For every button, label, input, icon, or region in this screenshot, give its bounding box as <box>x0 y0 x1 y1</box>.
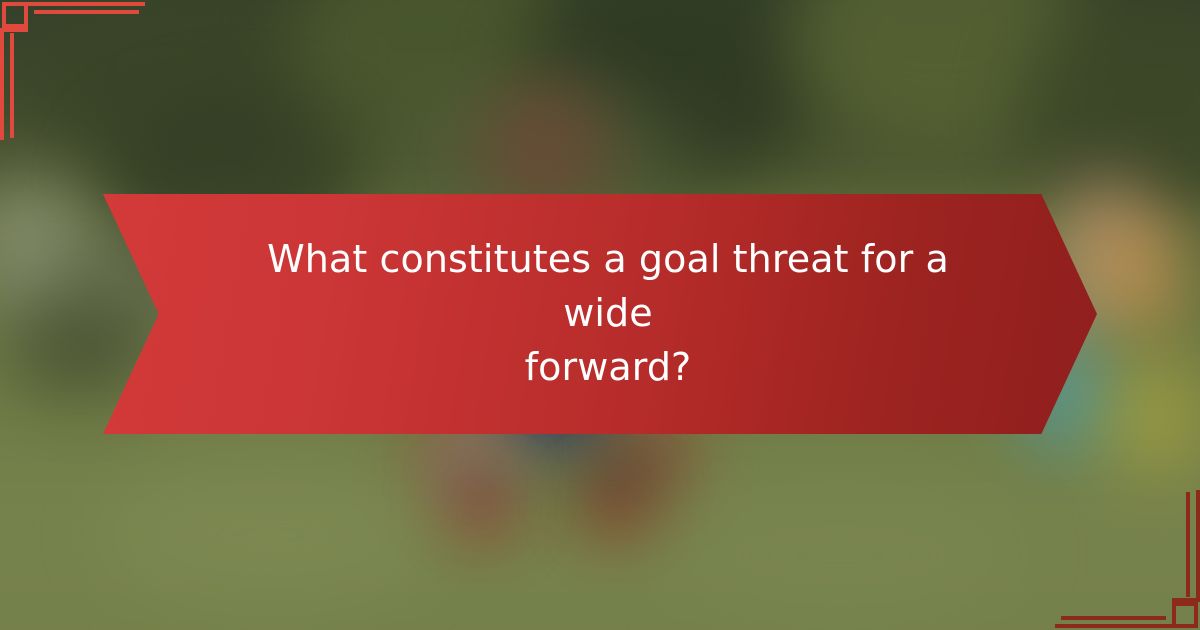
banner-question-text: What constitutes a goal threat for a wid… <box>237 233 963 395</box>
corner-ornament-bottom-right <box>1000 470 1200 630</box>
ornament-line <box>0 28 4 140</box>
grass-highlight <box>660 480 1020 630</box>
share-card: What constitutes a goal threat for a wid… <box>0 0 1200 630</box>
player-boot-sole-left <box>450 493 512 527</box>
ornament-line <box>1055 624 1172 628</box>
ornament-line <box>34 10 139 14</box>
chevron-banner: What constitutes a goal threat for a wid… <box>103 194 1097 434</box>
spectator-blob <box>1085 210 1185 340</box>
corner-ornament-top-left <box>0 0 200 160</box>
ornament-line <box>1172 598 1176 628</box>
ornament-line <box>1186 492 1190 597</box>
spectator-blob <box>1100 355 1200 475</box>
ornament-line <box>0 28 28 32</box>
ornament-line <box>1061 616 1166 620</box>
ornament-line <box>10 33 14 138</box>
player-boot-sole-right <box>585 493 647 527</box>
ornament-line <box>1196 490 1200 602</box>
grass-highlight <box>100 460 440 610</box>
ornament-line <box>28 2 145 6</box>
